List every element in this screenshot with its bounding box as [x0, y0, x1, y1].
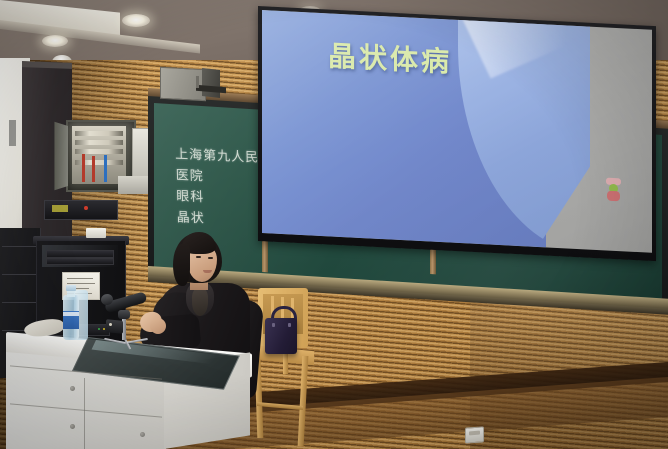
downlight-icon — [122, 14, 150, 27]
speaker-side-face — [202, 68, 220, 98]
desk-receiver[interactable] — [106, 319, 123, 333]
amplifier-display — [52, 205, 68, 212]
chair-leg-rear — [283, 352, 288, 374]
handbag — [265, 318, 297, 354]
window-mullion — [9, 120, 16, 146]
desk-receiver-indicator — [109, 323, 112, 326]
downlight-icon — [42, 35, 68, 47]
presenter-hair-side — [173, 244, 190, 286]
mic-mount-joint — [118, 310, 130, 319]
cabinet-door[interactable] — [54, 122, 68, 190]
mic-tripod-base — [104, 336, 148, 344]
bottle-cap — [66, 285, 76, 291]
amplifier-led-icon — [84, 206, 88, 210]
lecture-hall-photo: 上海第九人民 医院 眼科 晶状 晶状体病 — [0, 0, 668, 449]
projection-screen-surface: 晶状体病 — [262, 10, 652, 253]
presenter-inner-top — [192, 288, 208, 316]
bottle-label-stripe — [63, 312, 79, 316]
lectern-drawer-knob[interactable] — [70, 386, 75, 391]
presentation-slide: 晶状体病 — [262, 10, 652, 253]
speaker-latch — [196, 76, 199, 88]
lectern-drawer-knob[interactable] — [70, 424, 75, 429]
lectern-drawer-knob[interactable] — [140, 432, 145, 437]
power-socket-icon[interactable] — [465, 426, 484, 443]
slide-title: 晶状体病 — [328, 34, 452, 80]
small-white-device — [86, 228, 106, 238]
slide-corner-graphic-icon — [605, 178, 623, 203]
presenter-hand-second — [150, 318, 166, 334]
